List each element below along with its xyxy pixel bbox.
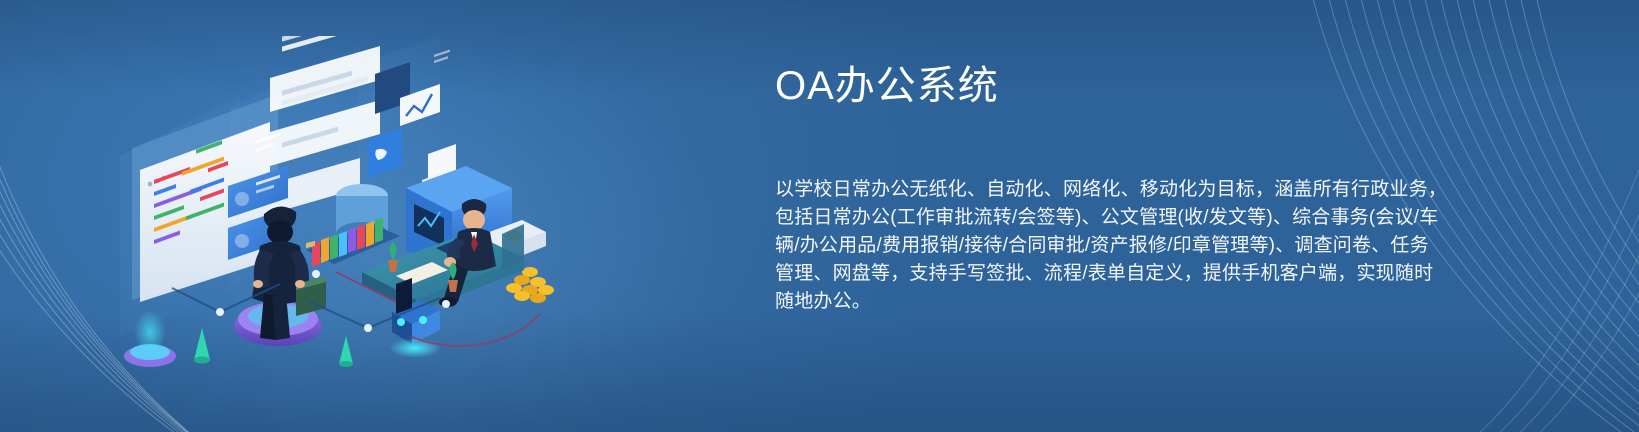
description-line-2: 包括日常办公(工作审批流转/会签等)、公文管理(收/发文等)、综合事务(会议/车 [775,204,1475,232]
banner-description: 以学校日常办公无纸化、自动化、网络化、移动化为目标，涵盖所有行政业务， 包括日常… [775,176,1475,316]
description-line-3: 辆/办公用品/费用报销/接待/合同审批/资产报修/印章管理等)、调查问卷、任务 [775,232,1475,260]
description-line-4: 管理、网盘等，支持手写签批、流程/表单自定义，提供手机客户端，实现随时 [775,260,1475,288]
description-line-1: 以学校日常办公无纸化、自动化、网络化、移动化为目标，涵盖所有行政业务， [775,176,1475,204]
description-line-5: 随地办公。 [775,288,1475,316]
page-title: OA办公系统 [775,62,1475,110]
isometric-office-illustration [110,36,580,386]
banner-text-column: OA办公系统 以学校日常办公无纸化、自动化、网络化、移动化为目标，涵盖所有行政业… [775,62,1475,316]
oa-system-banner: OA办公系统 以学校日常办公无纸化、自动化、网络化、移动化为目标，涵盖所有行政业… [0,0,1639,432]
